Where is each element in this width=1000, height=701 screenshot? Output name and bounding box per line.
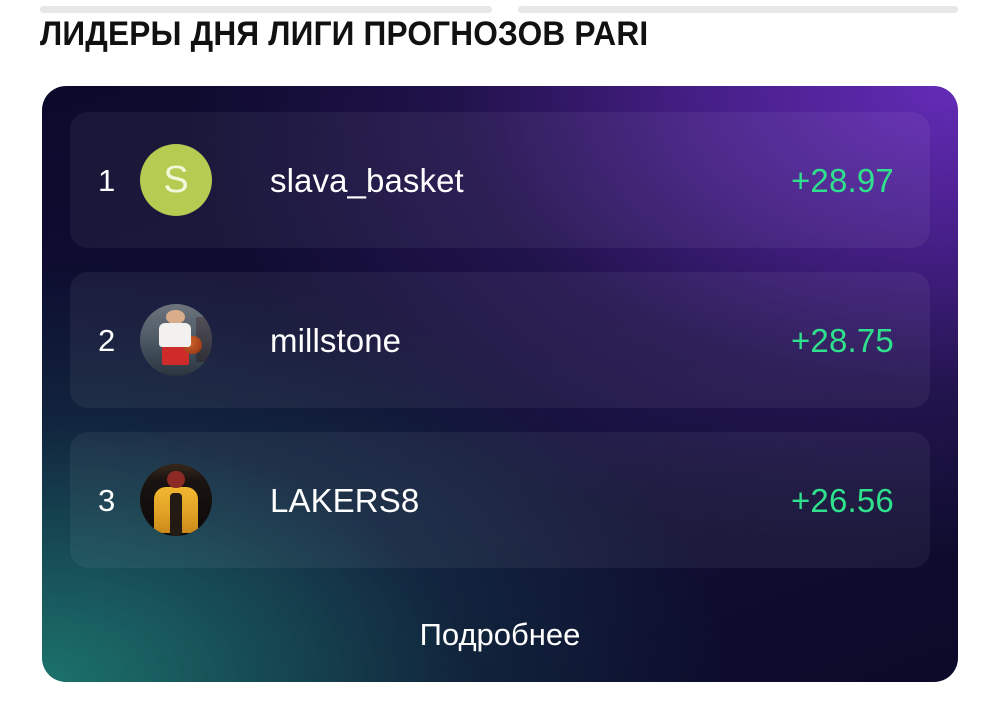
leaderboard-row[interactable]: 2 millstone +28.75: [70, 272, 930, 408]
username: slava_basket: [270, 164, 791, 197]
more-details-button[interactable]: Подробнее: [70, 592, 930, 678]
page-title: ЛИДЕРЫ ДНЯ ЛИГИ ПРОГНОЗОВ PARI: [40, 12, 648, 56]
avatar: [140, 304, 212, 376]
basketball-icon: [183, 336, 202, 355]
score-value: +26.56: [791, 484, 894, 517]
avatar-photo-center-shape: [170, 493, 182, 536]
leaderboard-row[interactable]: 1 S slava_basket +28.97: [70, 112, 930, 248]
avatar-photo-crowd-shape: [140, 464, 212, 481]
score-value: +28.97: [791, 164, 894, 197]
avatar-initial: S: [140, 144, 212, 216]
leaderboard-card: 1 S slava_basket +28.97 2 millstone +28.…: [42, 86, 958, 682]
rank-number: 3: [98, 485, 138, 516]
leaderboard-card-inner: 1 S slava_basket +28.97 2 millstone +28.…: [42, 86, 958, 682]
avatar-photo-basketball-player: [140, 304, 212, 376]
score-value: +28.75: [791, 324, 894, 357]
avatar: S: [140, 144, 212, 216]
leaderboard-row[interactable]: 3 LAKERS8 +26.56: [70, 432, 930, 568]
avatar-photo-lakers-fan: [140, 464, 212, 536]
avatar: [140, 464, 212, 536]
rank-number: 2: [98, 325, 138, 356]
username: LAKERS8: [270, 484, 791, 517]
username: millstone: [270, 324, 791, 357]
rank-number: 1: [98, 165, 138, 196]
